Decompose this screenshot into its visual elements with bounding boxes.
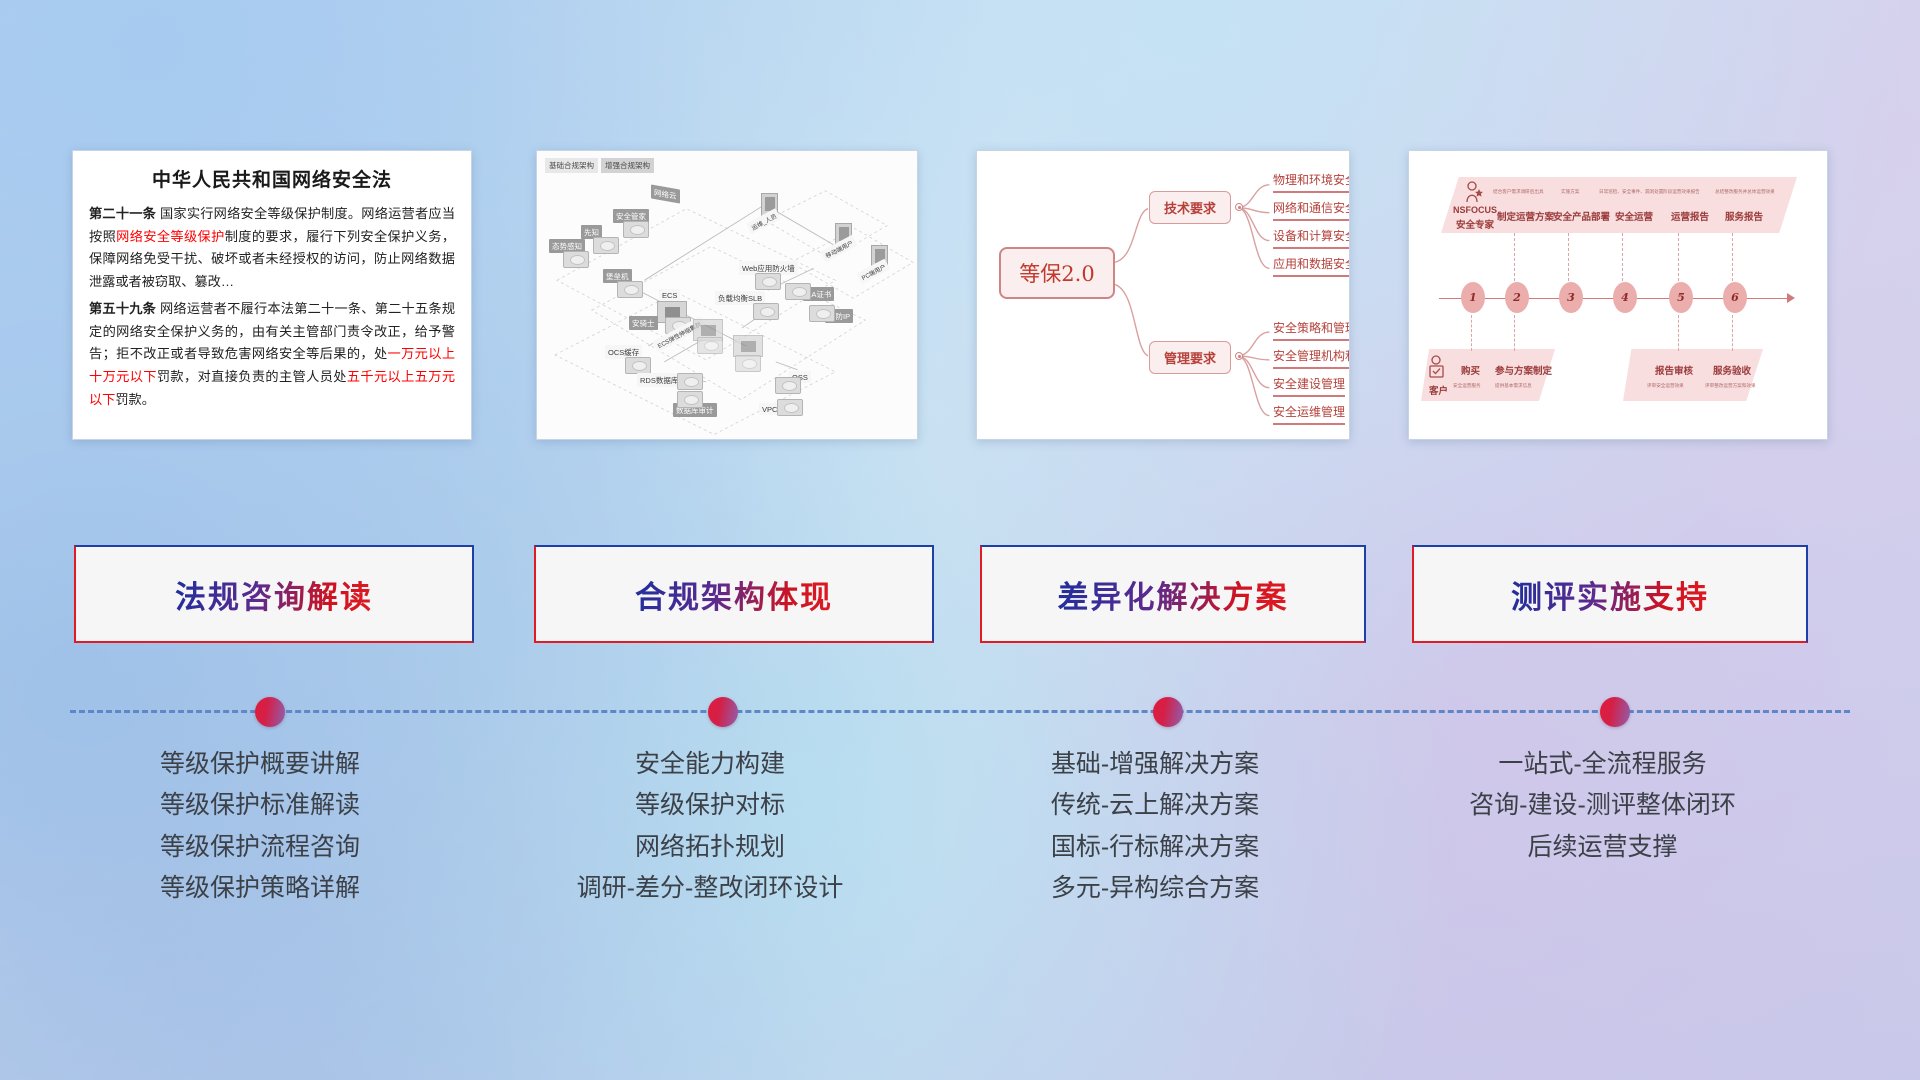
article-59-text-b: 罚款，对直接负责的主管人员处 bbox=[157, 369, 347, 384]
process-dash-5-top bbox=[1678, 233, 1679, 281]
list-item: 等级保护流程咨询 bbox=[70, 827, 450, 868]
mindmap-leaf-network-comm: 网络和通信安全 bbox=[1273, 199, 1350, 221]
list-item: 等级保护对标 bbox=[520, 785, 900, 826]
process-bottom-title-1: 购买 bbox=[1461, 363, 1480, 377]
timeline-dashed-line bbox=[70, 710, 1850, 713]
process-dash-6-bottom bbox=[1732, 315, 1733, 351]
card-mindmap-dengbao: 等保2.0 技术要求 物理和环境安全 网络和通信安全 设备和计算安全 应用和数据… bbox=[976, 150, 1350, 440]
list-item: 咨询-建设-测评整体闭环 bbox=[1410, 785, 1795, 826]
timeline bbox=[0, 693, 1920, 733]
title-box-differentiated-solution[interactable]: 差异化解决方案 bbox=[980, 545, 1366, 643]
mindmap: 等保2.0 技术要求 物理和环境安全 网络和通信安全 设备和计算安全 应用和数据… bbox=[977, 151, 1349, 439]
mindmap-leaf-policy-system: 安全策略和管理制度 bbox=[1273, 319, 1350, 341]
process-dash-1-bottom bbox=[1471, 315, 1472, 351]
arch-icon-slb bbox=[753, 303, 779, 320]
arch-icon-rds bbox=[677, 373, 703, 390]
process-dash-5-bottom bbox=[1678, 315, 1679, 351]
customer-person-icon bbox=[1427, 355, 1447, 381]
law-title: 中华人民共和国网络安全法 bbox=[89, 165, 455, 192]
list-item: 等级保护标准解读 bbox=[70, 785, 450, 826]
arch-icon-security-butler bbox=[623, 221, 649, 238]
process-dash-6-top bbox=[1732, 233, 1733, 281]
list-item: 等级保护策略详解 bbox=[70, 868, 450, 909]
article-59-label: 第五十九条 bbox=[89, 301, 156, 316]
expert-label-line2: 安全专家 bbox=[1456, 217, 1494, 231]
arch-icon-db-audit bbox=[677, 391, 703, 408]
process-bottom-sub-2: 提供基本需求信息 bbox=[1495, 383, 1532, 389]
process-bottom-sub-1: 安全运营服务 bbox=[1453, 383, 1481, 389]
process-top-sub-4: 阶段运营效果报告 bbox=[1663, 189, 1700, 195]
process-node-3: 3 bbox=[1559, 282, 1583, 313]
list-item: 网络拓扑规划 bbox=[520, 827, 900, 868]
detail-list-row: 等级保护概要讲解 等级保护标准解读 等级保护流程咨询 等级保护策略详解 安全能力… bbox=[0, 744, 1920, 974]
process-bottom-title-2: 参与方案制定 bbox=[1495, 363, 1552, 377]
law-body: 中华人民共和国网络安全法 第二十一条 国家实行网络安全等级保护制度。网络运营者应… bbox=[73, 151, 471, 425]
process-dash-3-top bbox=[1568, 233, 1569, 281]
expert-label-line1: NSFOCUS bbox=[1453, 205, 1497, 215]
card-operation-process: NSFOCUS 安全专家 客户 结合客户需求调研后出具 制定运营方案 实施方案 … bbox=[1408, 150, 1828, 440]
process-bottom-sub-4: 评审整改运营方案和效果 bbox=[1705, 383, 1756, 389]
arch-icon-ecs-3 bbox=[697, 337, 723, 354]
title-label-2: 合规架构体现 bbox=[635, 572, 833, 617]
detail-list-4: 一站式-全流程服务 咨询-建设-测评整体闭环 后续运营支撑 bbox=[1410, 744, 1795, 868]
timeline-dot-2 bbox=[708, 697, 738, 727]
process-top-title-4: 运营报告 bbox=[1671, 209, 1709, 223]
process-top-title-3: 安全运营 bbox=[1615, 209, 1653, 223]
arch-icon-situational-awareness bbox=[563, 251, 589, 268]
mindmap-leaf-construction-mgmt: 安全建设管理 bbox=[1273, 375, 1345, 397]
expert-person-icon bbox=[1463, 181, 1483, 203]
process-node-2: 2 bbox=[1505, 282, 1529, 313]
list-item: 安全能力构建 bbox=[520, 744, 900, 785]
arch-icon-xianzhi bbox=[593, 237, 619, 254]
card-cloud-architecture: 基础合规架构 增强合规架构 bbox=[536, 150, 918, 440]
mindmap-root: 等保2.0 bbox=[999, 247, 1115, 299]
mindmap-bullet-management bbox=[1235, 352, 1243, 360]
mindmap-leaf-app-data: 应用和数据安全 bbox=[1273, 255, 1350, 277]
arch-node-anqishi: 安骑士 bbox=[629, 316, 658, 330]
mindmap-leaf-physical-env: 物理和环境安全 bbox=[1273, 171, 1350, 193]
law-article-59: 第五十九条 网络运营者不履行本法第二十一条、第二十五条规定的网络安全保护义务的，… bbox=[89, 298, 455, 412]
list-item: 国标-行标解决方案 bbox=[965, 827, 1345, 868]
article-59-text-c: 罚款。 bbox=[115, 392, 155, 407]
mindmap-bullet-technical bbox=[1235, 203, 1243, 211]
arch-icon-ecs-5 bbox=[735, 355, 761, 372]
title-label-1: 法规咨询解读 bbox=[175, 572, 373, 617]
title-label-3: 差异化解决方案 bbox=[1058, 572, 1289, 617]
arch-icon-bastion-host bbox=[617, 281, 643, 298]
process-top-title-5: 服务报告 bbox=[1725, 209, 1763, 223]
list-item: 多元-异构综合方案 bbox=[965, 868, 1345, 909]
detail-list-1: 等级保护概要讲解 等级保护标准解读 等级保护流程咨询 等级保护策略详解 bbox=[70, 744, 450, 909]
title-box-row: 法规咨询解读 合规架构体现 差异化解决方案 测评实施支持 bbox=[0, 545, 1920, 650]
reference-card-row: 中华人民共和国网络安全法 第二十一条 国家实行网络安全等级保护制度。网络运营者应… bbox=[0, 150, 1920, 440]
timeline-dot-1 bbox=[255, 697, 285, 727]
list-item: 调研-差分-整改闭环设计 bbox=[520, 868, 900, 909]
timeline-dot-3 bbox=[1153, 697, 1183, 727]
arch-node-rds: RDS数据库 bbox=[637, 373, 681, 387]
arch-node-ecs: ECS bbox=[659, 289, 680, 301]
article-21-label: 第二十一条 bbox=[89, 206, 156, 221]
process-top-sub-1: 结合客户需求调研后出具 bbox=[1493, 189, 1544, 195]
timeline-dot-4 bbox=[1600, 697, 1630, 727]
arch-icon-ecs-4 bbox=[733, 335, 763, 357]
customer-label: 客户 bbox=[1429, 383, 1448, 397]
detail-list-3: 基础-增强解决方案 传统-云上解决方案 国标-行标解决方案 多元-异构综合方案 bbox=[965, 744, 1345, 909]
list-item: 一站式-全流程服务 bbox=[1410, 744, 1795, 785]
process-dash-2-top bbox=[1514, 233, 1515, 281]
process-node-6: 6 bbox=[1723, 282, 1747, 313]
card-cybersecurity-law: 中华人民共和国网络安全法 第二十一条 国家实行网络安全等级保护制度。网络运营者应… bbox=[72, 150, 472, 440]
process-top-sub-2: 实施方案 bbox=[1561, 189, 1579, 195]
detail-list-2: 安全能力构建 等级保护对标 网络拓扑规划 调研-差分-整改闭环设计 bbox=[520, 744, 900, 909]
title-box-compliance-architecture[interactable]: 合规架构体现 bbox=[534, 545, 934, 643]
mindmap-branch-technical: 技术要求 bbox=[1149, 191, 1231, 224]
mindmap-leaf-ops-mgmt: 安全运维管理 bbox=[1273, 403, 1345, 425]
process-top-title-1: 制定运营方案 bbox=[1497, 209, 1554, 223]
process-diagram: NSFOCUS 安全专家 客户 结合客户需求调研后出具 制定运营方案 实施方案 … bbox=[1409, 151, 1827, 439]
title-label-4: 测评实施支持 bbox=[1511, 572, 1709, 617]
process-top-sub-3: 日常巡检、安全事件、漏洞处置 bbox=[1599, 189, 1663, 195]
title-box-assessment-support[interactable]: 测评实施支持 bbox=[1412, 545, 1808, 643]
process-node-5: 5 bbox=[1669, 282, 1693, 313]
title-box-regulation-consulting[interactable]: 法规咨询解读 bbox=[74, 545, 474, 643]
arch-icon-vpc bbox=[777, 399, 803, 416]
process-bottom-title-4: 服务验收 bbox=[1713, 363, 1751, 377]
process-bottom-sub-3: 评审安全运营效果 bbox=[1647, 383, 1684, 389]
mindmap-branch-management: 管理要求 bbox=[1149, 341, 1231, 374]
arch-icon-oss bbox=[775, 377, 801, 394]
arch-icon-ocs-cache bbox=[625, 357, 651, 374]
list-item: 基础-增强解决方案 bbox=[965, 744, 1345, 785]
law-article-21: 第二十一条 国家实行网络安全等级保护制度。网络运营者应当按照网络安全等级保护制度… bbox=[89, 203, 455, 294]
architecture-diagram: 基础合规架构 增强合规架构 bbox=[537, 151, 917, 439]
process-node-1: 1 bbox=[1461, 282, 1485, 313]
process-top-title-2: 安全产品部署 bbox=[1553, 209, 1610, 223]
article-21-highlight: 网络安全等级保护 bbox=[116, 229, 225, 244]
process-axis-arrow bbox=[1787, 293, 1795, 303]
process-dash-2-bottom bbox=[1514, 315, 1515, 351]
process-top-sub-5: 总结整改服务并总体运营效果 bbox=[1715, 189, 1775, 195]
list-item: 传统-云上解决方案 bbox=[965, 785, 1345, 826]
arch-icon-anti-ddos-ip bbox=[809, 305, 835, 322]
arch-icon-waf bbox=[755, 273, 781, 290]
process-dash-4-top bbox=[1622, 233, 1623, 281]
arch-icon-ca-cert bbox=[785, 283, 811, 300]
process-node-4: 4 bbox=[1613, 282, 1637, 313]
mindmap-leaf-device-compute: 设备和计算安全 bbox=[1273, 227, 1350, 249]
process-bottom-title-3: 报告审核 bbox=[1655, 363, 1693, 377]
list-item: 后续运营支撑 bbox=[1410, 827, 1795, 868]
mindmap-leaf-org-personnel: 安全管理机构和人员 bbox=[1273, 347, 1350, 369]
list-item: 等级保护概要讲解 bbox=[70, 744, 450, 785]
